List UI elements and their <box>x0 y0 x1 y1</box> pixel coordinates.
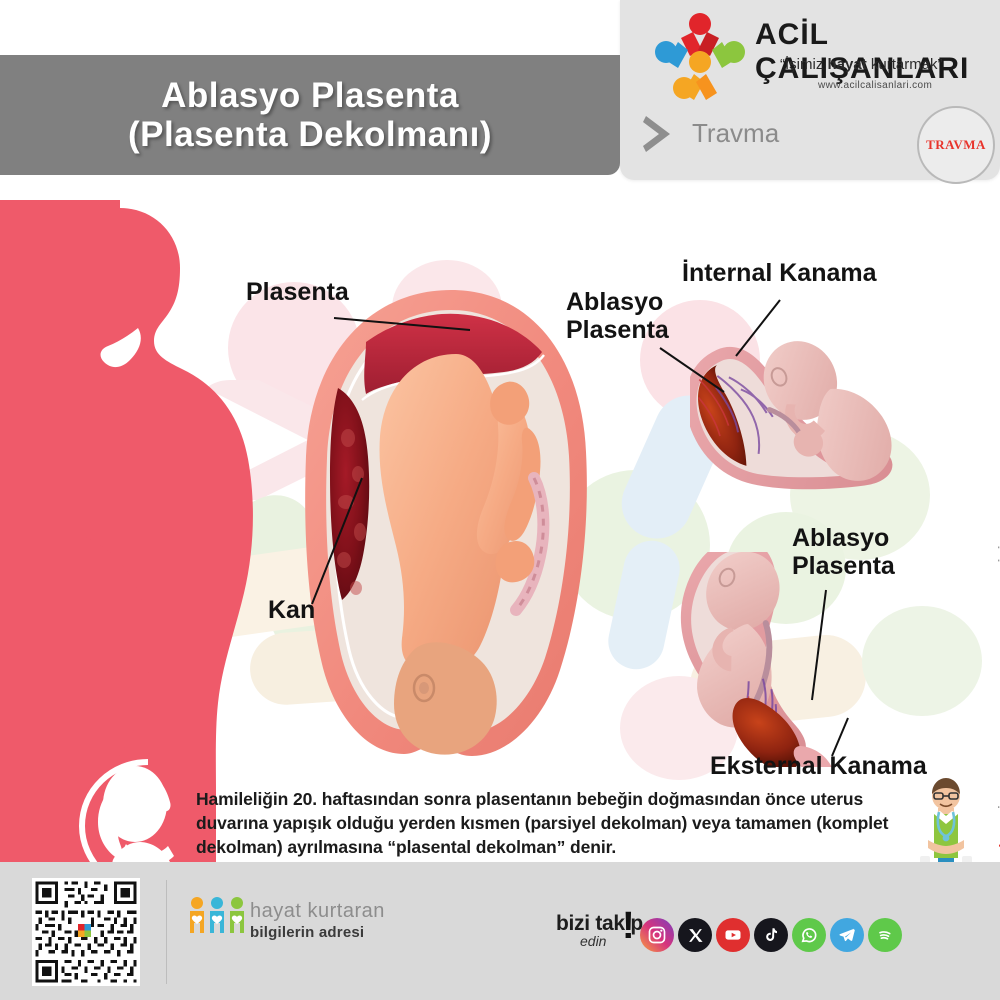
label-kan: Kan <box>268 596 315 624</box>
telegram-icon <box>837 925 857 945</box>
whatsapp-icon <box>799 925 819 945</box>
slogan-bold: hayat <box>828 56 867 73</box>
footer-divider <box>166 880 167 984</box>
label-internal-kanama: İnternal Kanama <box>682 259 877 287</box>
hayat-kurtaran-line2: bilgilerin adresi <box>250 924 385 941</box>
hayat-kurtaran-text: hayat kurtaran bilgilerin adresi <box>250 900 385 941</box>
social-x-twitter[interactable] <box>678 918 712 952</box>
acil-calisanlari-logo-icon <box>650 12 750 104</box>
brand-slogan: “İşimiz hayat kurtarmak” <box>780 56 943 73</box>
youtube-icon <box>723 925 743 945</box>
label-ablasyo-plasenta-lower: Ablasyo Plasenta <box>792 524 895 580</box>
slogan-post: kurtarmak” <box>867 56 943 73</box>
slogan-pre: “İşimiz <box>780 56 828 73</box>
hayat-kurtaran-logo-icon <box>186 895 250 943</box>
internal-bleeding-illustration <box>690 312 910 527</box>
description-text: Hamileliğin 20. haftasından sonra plasen… <box>196 788 912 859</box>
social-spotify[interactable] <box>868 918 902 952</box>
external-bleeding-illustration <box>660 552 890 767</box>
social-tiktok[interactable] <box>754 918 788 952</box>
label-plasenta: Plasenta <box>246 278 349 306</box>
social-instagram[interactable] <box>640 918 674 952</box>
qr-code[interactable] <box>32 878 140 986</box>
social-youtube[interactable] <box>716 918 750 952</box>
title-line-1: Ablasyo Plasenta <box>161 76 459 115</box>
brand-title: ACİL ÇALIŞANLARI <box>755 18 1000 86</box>
spotify-icon <box>875 925 895 945</box>
label-ablasyo-plasenta-main: Ablasyo Plasenta <box>566 288 669 344</box>
brand-url: www.acilcalisanlari.com <box>818 80 932 91</box>
main-uterus-fetus-illustration <box>296 288 606 758</box>
social-telegram[interactable] <box>830 918 864 952</box>
tiktok-icon <box>762 926 780 944</box>
category-badge: TRAVMA <box>917 106 995 184</box>
hayat-kurtaran-line1: hayat kurtaran <box>250 900 385 923</box>
infographic-poster: Plasenta Kan Ablasyo Plasenta İnternal K… <box>0 0 1000 1000</box>
chevron-right-icon <box>642 114 676 154</box>
category-badge-label: TRAVMA <box>926 137 986 153</box>
label-eksternal-kanama: Eksternal Kanama <box>710 752 927 780</box>
follow-exclamation: ! <box>622 905 635 948</box>
title-line-2: (Plasenta Dekolmanı) <box>128 115 492 154</box>
x-twitter-icon <box>687 927 704 944</box>
page-title: Ablasyo Plasenta (Plasenta Dekolmanı) <box>0 55 620 175</box>
category-name: Travma <box>692 118 779 149</box>
social-whatsapp[interactable] <box>792 918 826 952</box>
instagram-icon <box>647 925 667 945</box>
